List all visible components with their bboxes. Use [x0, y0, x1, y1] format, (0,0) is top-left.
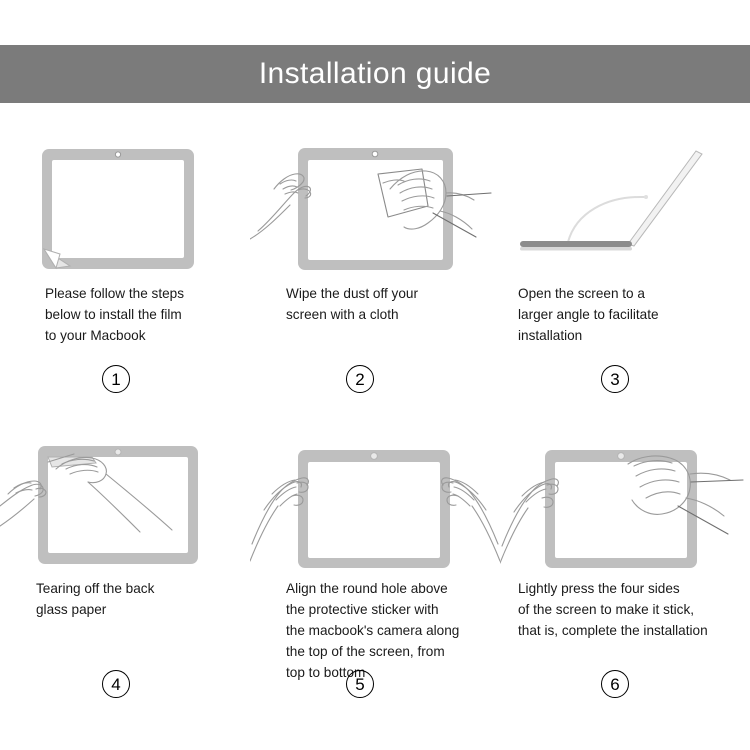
- step-number-badge-5: 5: [346, 670, 374, 698]
- step-description-6: Lightly press the four sides of the scre…: [518, 578, 746, 641]
- step-description-4: Tearing off the back glass paper: [36, 578, 241, 620]
- step-card-1: Please follow the steps below to install…: [0, 103, 250, 398]
- page-title: Installation guide: [259, 59, 491, 89]
- step-number-badge-3: 3: [601, 365, 629, 393]
- illustration-hands-tearing-back-paper: [0, 436, 250, 571]
- step-card-4: Tearing off the back glass paper 4: [0, 398, 250, 693]
- step-number-badge-1: 1: [102, 365, 130, 393]
- step-card-3: Open the screen to a larger angle to fac…: [500, 103, 750, 398]
- step-number-badge-2: 2: [346, 365, 374, 393]
- step-card-5: Align the round hole above the protectiv…: [250, 398, 500, 693]
- illustration-hand-pressing-screen-flat: [500, 436, 750, 571]
- step-description-5: Align the round hole above the protectiv…: [286, 578, 496, 683]
- header-band: Installation guide: [0, 45, 750, 103]
- step-number-badge-6: 6: [601, 670, 629, 698]
- illustration-tablet-with-peeling-corner: [0, 141, 250, 276]
- step-description-1: Please follow the steps below to install…: [45, 283, 245, 346]
- step-number-badge-4: 4: [102, 670, 130, 698]
- step-description-3: Open the screen to a larger angle to fac…: [518, 283, 746, 346]
- steps-grid: Please follow the steps below to install…: [0, 103, 750, 723]
- step-description-2: Wipe the dust off your screen with a clo…: [286, 283, 496, 325]
- illustration-laptop-opening-angle-arc: [500, 141, 750, 276]
- step-card-6: Lightly press the four sides of the scre…: [500, 398, 750, 693]
- illustration-hands-wiping-screen-with-cloth: [250, 141, 500, 276]
- step-card-2: Wipe the dust off your screen with a clo…: [250, 103, 500, 398]
- installation-guide-page: Installation guide Please follow the ste…: [0, 0, 750, 750]
- illustration-two-hands-aligning-film: [250, 436, 500, 571]
